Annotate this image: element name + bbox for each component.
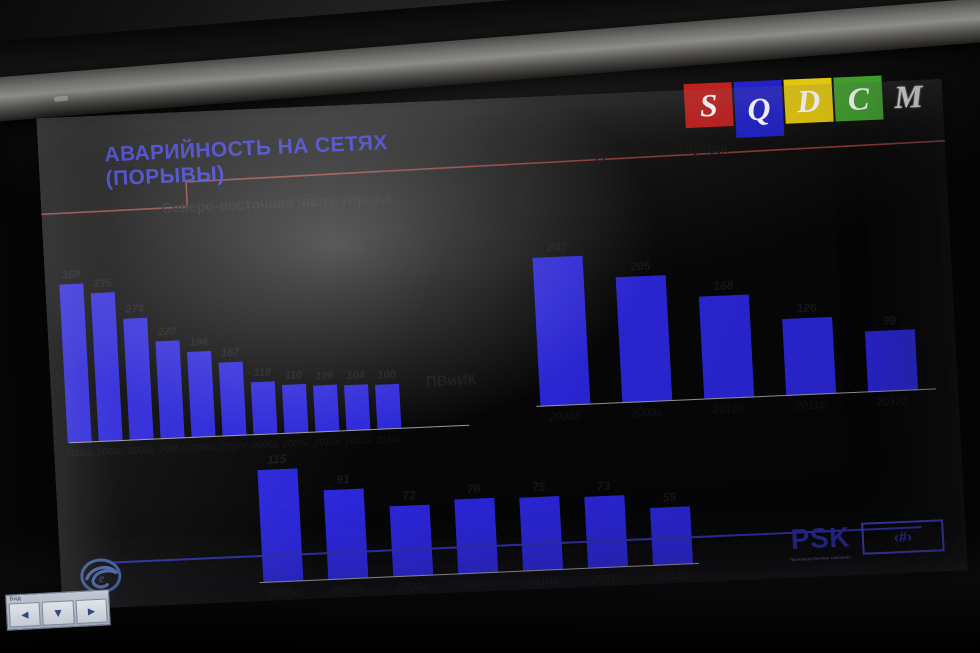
bar-category-label: 2010г. [712,403,747,416]
screenshot-root: S Q D C M АВАРИЙНОСТЬ НА СЕТЯХ (ПОРЫВЫ) … [0,0,980,653]
sqdcm-cell-c: C [833,76,883,122]
bar-category-label: 2002г. [66,447,95,459]
bar-column: 762009г. [451,445,498,575]
floating-toolbar[interactable]: Вид ◄ ▼ ► [5,589,111,630]
bar-value-label: 194 [189,336,208,349]
psk-brand: PSK [790,521,851,556]
sqdcm-cell-q: Q [733,80,784,138]
bar-value-label: 205 [630,259,651,274]
bar-category-label: 2005г. [159,443,188,455]
bar-value-label: 76 [467,481,481,496]
bar-column: 3352003г. [89,263,122,442]
bar-column: 2742004г. [120,262,153,441]
bar-value-label: 167 [221,347,240,360]
bar-column: 732011г. [581,439,628,569]
bar-column: 2432008г. [531,233,590,407]
bar-value-label: 274 [125,303,144,316]
bar-value-label: 73 [597,479,611,494]
arrow-right-icon[interactable]: ► [75,598,108,624]
bar-category-label: 2009г. [461,578,496,591]
bar [454,498,498,575]
bar-column: 992012г. [859,218,918,392]
sqdcm-logo: S Q D C M [683,73,934,140]
svg-text:e: e [99,571,106,585]
bar-category-label: 2006г. [266,586,301,599]
sqdcm-cell-d: D [783,78,833,124]
projected-slide-wrap: S Q D C M АВАРИЙНОСТЬ НА СЕТЯХ (ПОРЫВЫ) … [0,70,979,631]
bar-column: 752010г. [516,442,563,572]
arrow-down-icon[interactable]: ▼ [42,600,75,626]
bar-column: 3582002г. [58,265,91,444]
bar-column: 1152006г. [257,453,304,583]
sqdcm-cell-s: S [683,82,733,128]
bar-category-label: 2011г. [592,572,626,585]
bar-value-label: 91 [336,472,350,487]
bar-value-label: 115 [267,452,287,467]
bar [257,468,303,583]
bar-category-label: 2008г. [396,581,431,594]
bar [699,295,754,400]
bar-column: 1672007г. [213,258,246,437]
bar-category-label: 2010г. [526,575,561,588]
bar-value-label: 335 [93,277,112,290]
bar-column: 592012г. [646,436,693,566]
bar-value-label: 72 [402,488,416,503]
bar [187,351,216,438]
bar-value-label: 59 [662,490,676,505]
bar [782,317,836,396]
presentation-slide: S Q D C M АВАРИЙНОСТЬ НА СЕТЯХ (ПОРЫВЫ) … [36,79,967,610]
bar-value-label: 104 [346,369,365,382]
bar-column: 1682010г. [695,226,754,400]
chart3-bars: 1152006г.912007г.722008г.762009г.752010г… [257,436,693,583]
bar [123,318,153,441]
bar-value-label: 168 [713,278,734,293]
bar-value-label: 118 [253,366,271,379]
bar [584,495,628,569]
bar-category-label: 2007г. [331,583,366,596]
bar [533,256,591,407]
bar-value-label: 243 [547,239,568,254]
chart2-bars: 2432008г.2052009г.1682010г.1262011г.9920… [531,218,918,406]
bar [59,284,91,444]
chart-pviik: 1152006г.912007г.722008г.762009г.752010г… [244,389,724,601]
bar-category-label: 2006г. [190,442,219,454]
bar-category-label: 2003г. [97,446,126,458]
bar-column: 912007г. [322,451,369,581]
bar [219,362,247,437]
bar [865,329,918,392]
bar-column: 2052009г. [613,229,672,403]
arrow-left-icon[interactable]: ◄ [9,602,42,628]
bar-column: 2202005г. [151,260,184,439]
bar-value-label: 358 [61,269,80,282]
sqdcm-cell-m: M [883,73,933,119]
bar [324,488,369,580]
bar-column: 1942006г. [182,259,215,438]
page-number-box: ‹#› [861,519,945,555]
bar-value-label: 110 [284,369,302,382]
bar-value-label: 100 [377,369,396,382]
bar-value-label: 220 [157,326,176,339]
bar-category-label: 2011г. [795,399,829,412]
bar [155,340,184,439]
bar-column: 1262011г. [777,222,836,396]
floating-toolbar-title: Вид [9,596,21,603]
chart-southwest: 2432008г.2052009г.1682010г.1262011г.9920… [514,157,947,425]
bar [519,496,563,572]
bar-column: 722008г. [387,448,434,578]
bar-category-label: 2012г. [876,396,911,409]
bar-value-label: 75 [532,480,546,495]
housing-knob [54,96,68,102]
bar-value-label: 126 [796,301,817,316]
bar-category-label: 2012г. [656,569,691,582]
bar [91,292,123,442]
bar-value-label: 106 [315,370,334,383]
bar [616,275,673,403]
bar [390,505,434,578]
bar-value-label: 99 [882,313,896,328]
bar-category-label: 2004г. [128,444,157,456]
